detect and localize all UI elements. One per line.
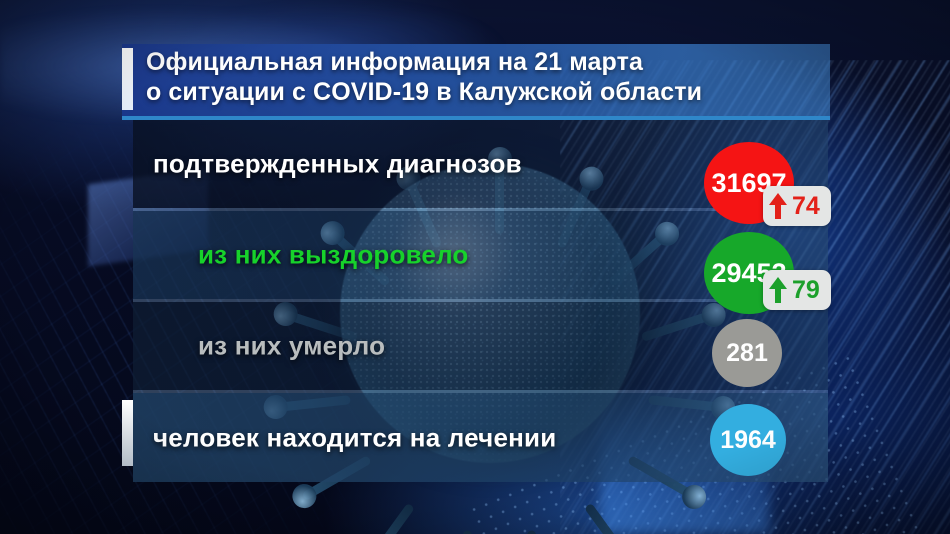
delta-value-confirmed: 74 bbox=[792, 194, 820, 219]
value-bubble-deaths: 281 bbox=[712, 319, 782, 387]
delta-badge-recovered: 79 bbox=[763, 270, 831, 310]
value-deaths: 281 bbox=[726, 341, 768, 366]
stat-label-confirmed: подтвержденных диагнозов bbox=[153, 149, 522, 180]
delta-badge-confirmed: 74 bbox=[763, 186, 831, 226]
delta-value-recovered: 79 bbox=[792, 278, 820, 303]
stat-label-active: человек находится на лечении bbox=[153, 422, 556, 453]
stat-label-recovered: из них выздоровело bbox=[198, 240, 469, 271]
bottom-accent-bar bbox=[122, 400, 133, 466]
title-line-2: о ситуации с COVID-19 в Калужской област… bbox=[146, 77, 826, 107]
page-title: Официальная информация на 21 марта о сит… bbox=[146, 47, 826, 107]
arrow-up-icon bbox=[769, 193, 787, 219]
title-accent-bar bbox=[122, 48, 133, 110]
title-line-1: Официальная информация на 21 марта bbox=[146, 47, 826, 77]
arrow-up-icon bbox=[769, 277, 787, 303]
infographic-slide: Официальная информация на 21 марта о сит… bbox=[0, 0, 950, 534]
value-active: 1964 bbox=[720, 428, 776, 453]
value-bubble-active: 1964 bbox=[710, 404, 786, 476]
stat-label-deaths: из них умерло bbox=[198, 331, 385, 362]
